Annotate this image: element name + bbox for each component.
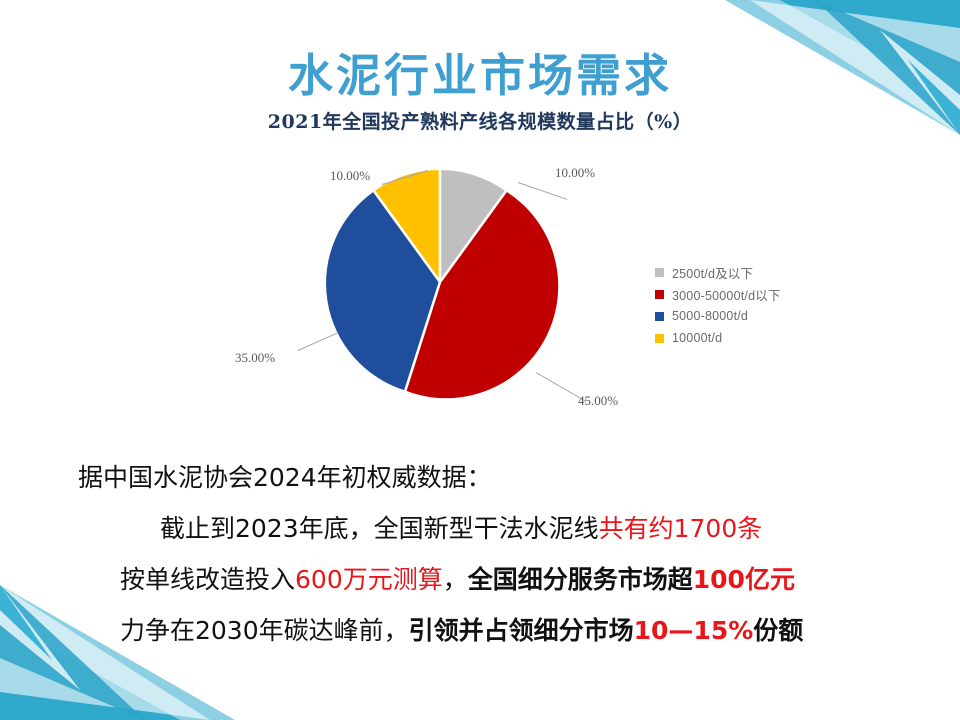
body-line-2: 截止到2023年底，全国新型干法水泥线共有约1700条 <box>160 516 960 541</box>
legend-swatch-red <box>655 290 664 299</box>
body-line-3-highlight-market: 100亿元 <box>693 565 795 594</box>
legend-item-5000[interactable]: 5000-8000t/d <box>655 306 840 326</box>
body-line-4: 力争在2030年碳达峰前，引领并占领细分市场10—15%份额 <box>120 618 960 643</box>
body-line-3-lead: 按单线改造投入 <box>120 565 295 594</box>
body-line-1: 据中国水泥协会2024年初权威数据： <box>78 465 960 490</box>
body-line-4-lead: 力争在2030年碳达峰前， <box>120 616 409 645</box>
title-block: 水泥行业市场需求 2021年全国投产熟料产线各规模数量占比（%） <box>0 52 960 134</box>
legend-swatch-gray <box>655 268 664 277</box>
body-line-3: 按单线改造投入600万元测算，全国细分服务市场超100亿元 <box>120 567 960 592</box>
legend-label-3000: 3000-50000t/d以下 <box>672 285 781 304</box>
pie-svg <box>320 162 560 402</box>
body-line-4-bold: 引领并占领细分市场 <box>409 616 634 645</box>
page-title: 水泥行业市场需求 <box>0 52 960 101</box>
legend-item-2500[interactable]: 2500t/d及以下 <box>655 262 840 282</box>
slide-canvas: 水泥行业市场需求 2021年全国投产熟料产线各规模数量占比（%） <box>0 0 960 720</box>
body-line-2-highlight: 共有约1700条 <box>599 514 763 543</box>
body-line-3-comma: ， <box>443 565 468 594</box>
legend-label-5000: 5000-8000t/d <box>672 309 748 323</box>
legend-label-2500: 2500t/d及以下 <box>672 263 753 282</box>
pie-graphic <box>320 162 560 402</box>
pie-label-gray: 10.00% <box>555 165 595 181</box>
chart-subtitle: 2021年全国投产熟料产线各规模数量占比（%） <box>0 107 960 134</box>
body-text-block: 据中国水泥协会2024年初权威数据： 截止到2023年底，全国新型干法水泥线共有… <box>0 455 960 643</box>
legend-item-3000[interactable]: 3000-50000t/d以下 <box>655 284 840 304</box>
legend-swatch-blue <box>655 312 664 321</box>
pie-label-gold: 10.00% <box>330 168 370 184</box>
body-line-3-bold: 全国细分服务市场超 <box>468 565 693 594</box>
pie-label-blue: 35.00% <box>235 350 275 366</box>
body-line-2-lead: 截止到2023年底，全国新型干法水泥线 <box>160 514 599 543</box>
legend-label-10000: 10000t/d <box>672 331 722 345</box>
legend-swatch-gold <box>655 334 664 343</box>
pie-chart: 10.00% 10.00% 35.00% 45.00% 2500t/d及以下 3… <box>200 150 840 440</box>
body-line-4-tail: 份额 <box>753 616 803 645</box>
legend-item-10000[interactable]: 10000t/d <box>655 328 840 348</box>
body-line-4-highlight-share: 10—15% <box>634 616 754 645</box>
chart-legend: 2500t/d及以下 3000-50000t/d以下 5000-8000t/d … <box>655 262 840 350</box>
body-line-1-text: 据中国水泥协会2024年初权威数据： <box>78 463 492 492</box>
pie-label-red: 45.00% <box>578 393 618 409</box>
body-line-3-highlight-cost: 600万元测算 <box>295 565 443 594</box>
